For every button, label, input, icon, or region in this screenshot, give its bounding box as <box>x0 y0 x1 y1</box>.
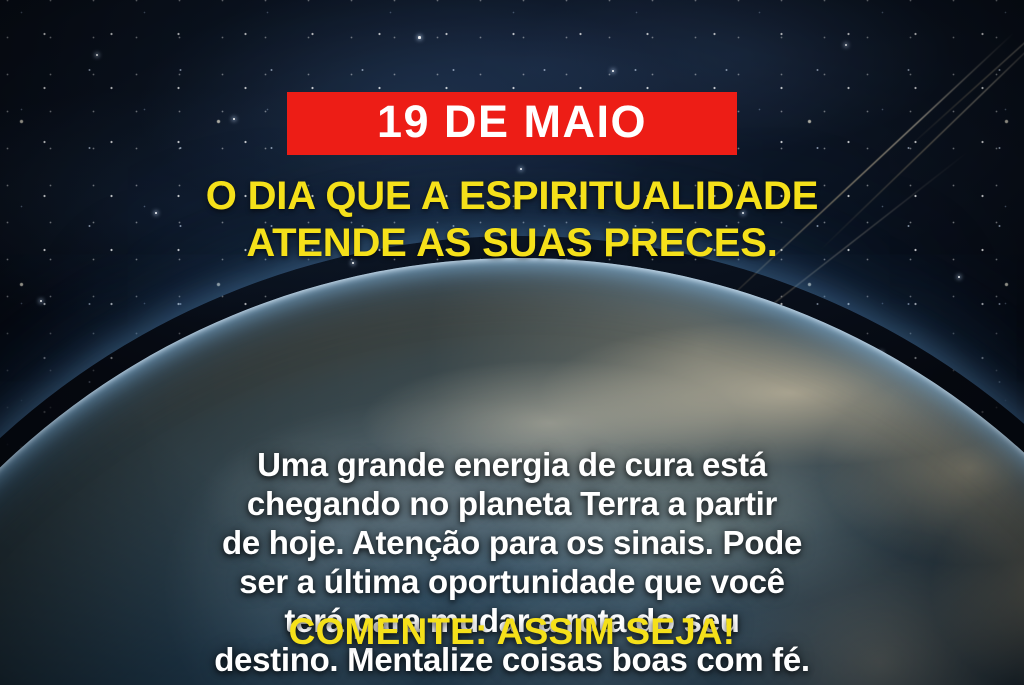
date-banner: 19 DE MAIO <box>287 92 737 155</box>
headline: O DIA QUE A ESPIRITUALIDADE ATENDE AS SU… <box>62 173 962 266</box>
date-banner-text: 19 DE MAIO <box>317 98 707 145</box>
body-line-1: Uma grande energia de cura está <box>67 446 957 485</box>
call-to-action-text: COMENTE: ASSIM SEJA! <box>62 612 962 653</box>
body-line-4: ser a última oportunidade que você <box>67 563 957 602</box>
body-line-2: chegando no planeta Terra a partir <box>67 485 957 524</box>
poster-canvas: 19 DE MAIO O DIA QUE A ESPIRITUALIDADE A… <box>0 0 1024 685</box>
headline-line-1: O DIA QUE A ESPIRITUALIDADE <box>62 173 962 219</box>
headline-line-2: ATENDE AS SUAS PRECES. <box>62 220 962 266</box>
body-line-3: de hoje. Atenção para os sinais. Pode <box>67 524 957 563</box>
